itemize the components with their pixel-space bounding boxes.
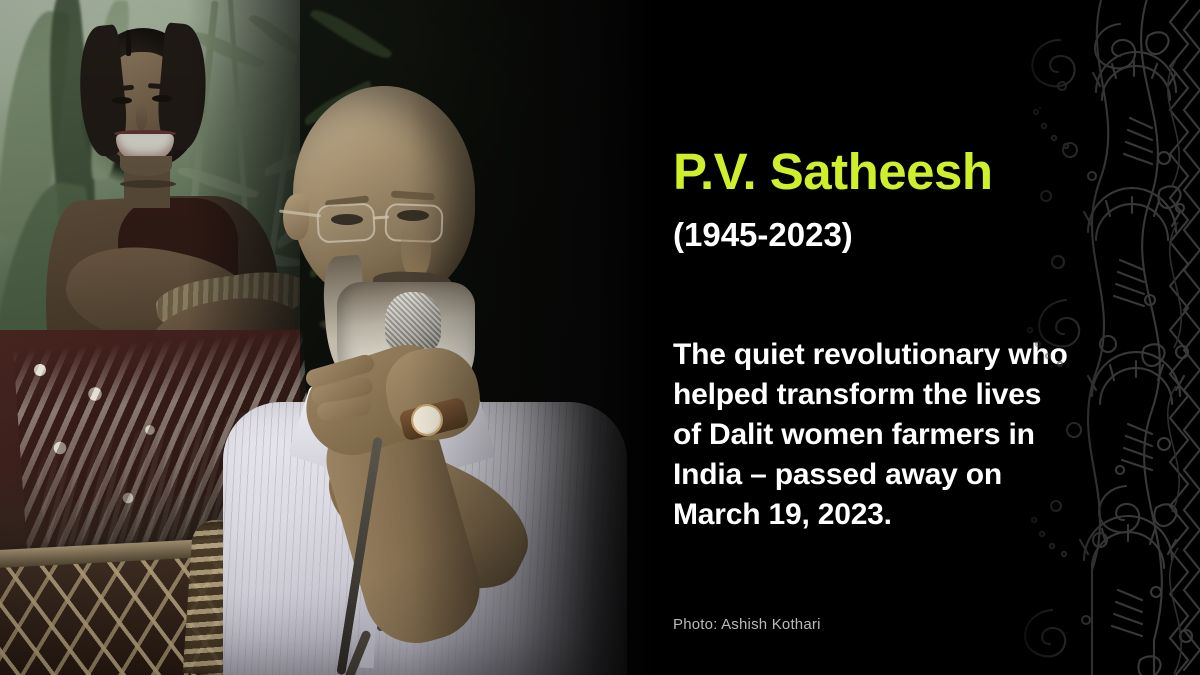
person-name: P.V. Satheesh xyxy=(673,146,993,197)
person-life-dates: (1945-2023) xyxy=(673,218,853,251)
memorial-poster: P.V. Satheesh (1945-2023) The quiet revo… xyxy=(0,0,1200,675)
speaker-photograph xyxy=(0,0,660,675)
photo-credit: Photo: Ashish Kothari xyxy=(673,616,821,633)
mehndi-mandala-pattern-icon xyxy=(1000,0,1200,675)
